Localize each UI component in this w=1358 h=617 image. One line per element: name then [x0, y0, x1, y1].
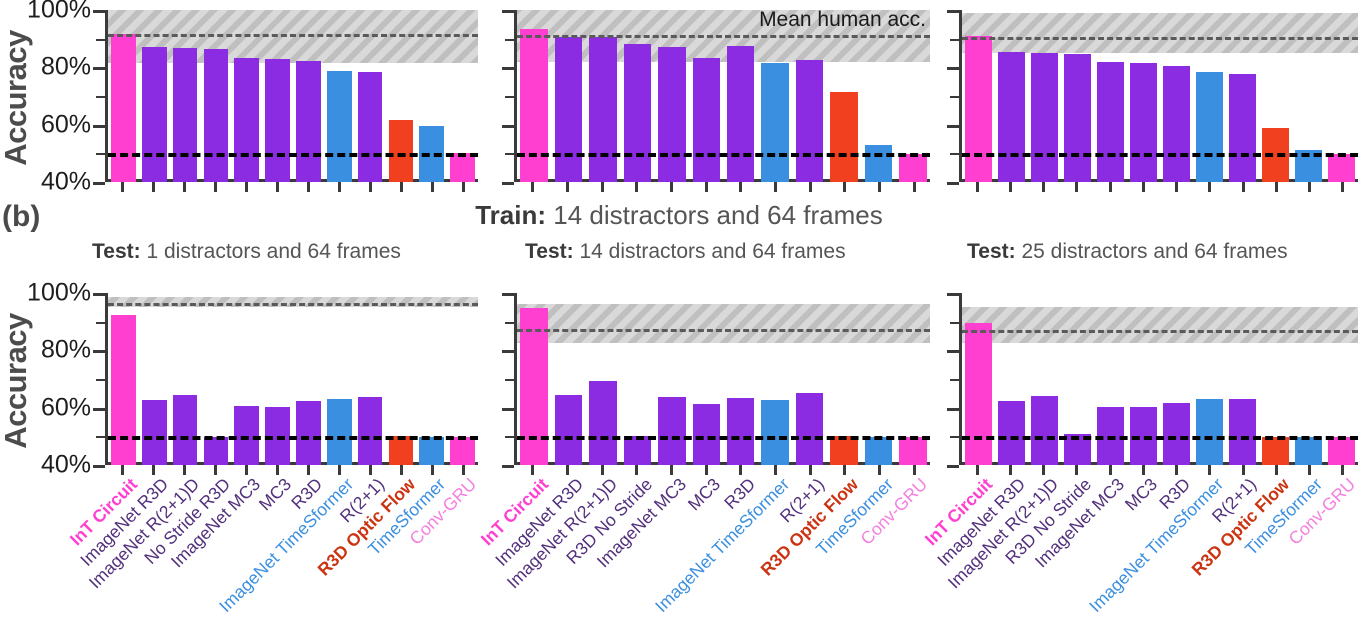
x-tick	[1175, 182, 1178, 192]
x-tick	[1075, 182, 1078, 192]
y-tick	[502, 125, 514, 128]
bar	[173, 48, 198, 182]
y-tick-label: 40%	[41, 168, 91, 197]
y-tick	[505, 96, 514, 98]
bar	[265, 59, 290, 182]
test-title-right: Test: 25 distractors and 64 frames	[967, 240, 1288, 264]
y-axis-label-bottom: Accuracy	[0, 283, 36, 478]
mean-human-acc-annotation: Mean human acc.	[759, 8, 926, 32]
y-tick	[93, 10, 105, 13]
plot-area-top-middle: Mean human acc.	[514, 10, 930, 182]
y-tick	[505, 379, 514, 381]
chance-level-line	[517, 153, 930, 157]
y-tick	[502, 67, 514, 70]
x-tick	[1308, 182, 1311, 192]
x-tick	[670, 182, 673, 192]
y-tick	[950, 379, 959, 381]
y-tick	[93, 350, 105, 353]
bar	[111, 34, 136, 182]
chart-panel-top-right	[897, 0, 1358, 195]
bar	[555, 37, 583, 182]
bar	[234, 58, 259, 182]
bar	[204, 49, 229, 182]
plot-area-bottom-right	[959, 293, 1358, 465]
train-condition-title: Train: 14 distractors and 64 frames	[0, 200, 1358, 231]
plot-area-top-right	[959, 10, 1358, 182]
test-value-left: 1 distractors and 64 frames	[141, 240, 401, 263]
bar	[389, 120, 414, 182]
y-tick	[950, 39, 959, 41]
x-tick	[121, 182, 124, 192]
x-tick	[214, 182, 217, 192]
y-tick	[93, 67, 105, 70]
x-tick	[183, 182, 186, 192]
y-tick-label: 80%	[41, 336, 91, 365]
y-tick	[505, 153, 514, 155]
x-tick	[843, 182, 846, 192]
bar	[1328, 154, 1354, 182]
test-value-middle: 14 distractors and 64 frames	[574, 240, 846, 263]
bar	[865, 437, 893, 465]
test-value-right: 25 distractors and 64 frames	[1016, 240, 1288, 263]
y-tick	[947, 10, 959, 13]
bar	[1130, 63, 1156, 182]
bar	[830, 92, 858, 182]
bar	[830, 436, 858, 465]
x-tick	[1341, 182, 1344, 192]
bar	[624, 436, 652, 465]
bar	[865, 145, 893, 182]
bar	[693, 404, 721, 465]
bar	[1295, 437, 1321, 465]
x-tick	[338, 182, 341, 192]
bar	[1097, 62, 1123, 182]
y-tick	[505, 322, 514, 324]
y-tick	[93, 182, 105, 185]
bar	[1064, 54, 1090, 182]
mean-human-accuracy-line	[962, 330, 1358, 333]
y-tick	[947, 350, 959, 353]
y-tick-label: 60%	[41, 393, 91, 422]
chance-level-line	[108, 436, 478, 440]
bar	[358, 72, 383, 182]
y-tick	[947, 182, 959, 185]
chart-panel-bottom-right	[897, 283, 1358, 483]
bar	[761, 63, 789, 182]
bar	[796, 60, 824, 182]
y-tick	[950, 153, 959, 155]
bar	[965, 36, 991, 182]
train-label: Train:	[475, 200, 546, 230]
bar	[998, 52, 1024, 182]
bar	[899, 437, 927, 465]
x-tick	[245, 182, 248, 192]
y-axis-label-top: Accuracy	[0, 0, 36, 195]
bar	[296, 401, 321, 465]
y-tick	[502, 182, 514, 185]
y-tick	[96, 379, 105, 381]
train-value: 14 distractors and 64 frames	[546, 200, 883, 230]
x-tick	[1275, 182, 1278, 192]
chart-row-bottom: Accuracy 100%80%60%40%	[0, 283, 1358, 483]
bar	[1229, 74, 1255, 182]
y-tick-label: 60%	[41, 110, 91, 139]
bar	[965, 323, 991, 465]
bar	[624, 44, 652, 182]
bar	[296, 61, 321, 182]
x-tick	[1242, 182, 1245, 192]
bar	[450, 437, 475, 465]
mean-human-accuracy-line	[517, 329, 930, 332]
bar	[1163, 403, 1189, 465]
x-tick	[369, 182, 372, 192]
bar	[204, 437, 229, 465]
plot-area-bottom-middle	[514, 293, 930, 465]
bar	[693, 58, 721, 182]
chance-level-line	[962, 436, 1358, 440]
y-tick	[96, 322, 105, 324]
y-tick	[950, 322, 959, 324]
bar	[1031, 53, 1057, 182]
x-tick	[276, 182, 279, 192]
x-tick	[809, 182, 812, 192]
y-tick-label: 80%	[41, 53, 91, 82]
mean-human-accuracy-line	[108, 34, 478, 37]
bar	[796, 393, 824, 465]
y-tick	[96, 96, 105, 98]
bar	[327, 399, 352, 466]
x-tick	[705, 182, 708, 192]
x-tick	[431, 182, 434, 192]
bar	[555, 395, 583, 465]
chance-level-line	[108, 153, 478, 157]
y-tick	[96, 39, 105, 41]
mean-human-accuracy-line	[108, 303, 478, 306]
chart-panel-bottom-middle	[452, 283, 930, 483]
bar	[1229, 399, 1255, 465]
x-tick	[307, 182, 310, 192]
bar	[761, 400, 789, 465]
y-tick	[96, 153, 105, 155]
bar	[998, 401, 1024, 465]
x-tick	[152, 182, 155, 192]
y-tick	[947, 293, 959, 296]
bar	[142, 47, 167, 182]
bar	[589, 381, 617, 465]
bar	[327, 71, 352, 183]
bar	[173, 395, 198, 465]
y-tick	[950, 96, 959, 98]
bar	[727, 398, 755, 465]
x-tick	[976, 182, 979, 192]
y-tick	[505, 39, 514, 41]
chart-panel-top-middle: Mean human acc.	[452, 0, 930, 195]
y-tick	[93, 465, 105, 468]
y-tick	[947, 125, 959, 128]
x-tick	[1042, 182, 1045, 192]
y-tick	[502, 293, 514, 296]
y-tick	[502, 10, 514, 13]
bar	[1196, 72, 1222, 182]
y-tick	[93, 293, 105, 296]
y-tick	[93, 408, 105, 411]
test-title-left: Test: 1 distractors and 64 frames	[92, 240, 401, 264]
y-tick-label: 100%	[27, 279, 91, 308]
bar	[658, 47, 686, 182]
y-tick	[96, 436, 105, 438]
bar	[658, 397, 686, 465]
x-tick	[400, 182, 403, 192]
test-label-left: Test:	[92, 240, 141, 263]
mean-human-accuracy-line	[517, 35, 930, 38]
bar	[358, 397, 383, 465]
test-title-middle: Test: 14 distractors and 64 frames	[525, 240, 846, 264]
x-tick	[774, 182, 777, 192]
x-tick	[739, 182, 742, 192]
chance-level-line	[962, 153, 1358, 157]
chart-panel-top-left: Accuracy 100%80%60%40%	[0, 0, 478, 195]
bar	[142, 400, 167, 465]
chart-row-top: Accuracy 100%80%60%40% Mean human acc.	[0, 0, 1358, 195]
x-axis-labels: InT CircuitImageNet R3DImageNet R(2+1)DN…	[0, 474, 1358, 594]
chart-panel-bottom-left: Accuracy 100%80%60%40%	[0, 283, 478, 483]
plot-area-top-left: 100%80%60%40%	[105, 10, 478, 182]
bar	[111, 315, 136, 465]
x-tick	[1009, 182, 1012, 192]
x-tick	[566, 182, 569, 192]
bar	[1163, 66, 1189, 182]
y-tick	[947, 67, 959, 70]
x-tick	[601, 182, 604, 192]
mean-human-accuracy-line	[962, 37, 1358, 40]
bar	[1196, 399, 1222, 465]
x-tick	[1109, 182, 1112, 192]
bar	[589, 37, 617, 182]
x-tick	[878, 182, 881, 192]
figure-panel-b: Accuracy 100%80%60%40% Mean human acc. (…	[0, 0, 1358, 596]
bar	[1328, 437, 1354, 465]
x-tick	[531, 182, 534, 192]
bar	[1031, 396, 1057, 465]
y-tick	[93, 125, 105, 128]
bar	[899, 154, 927, 182]
chance-level-line	[517, 436, 930, 440]
y-tick	[502, 350, 514, 353]
bar	[389, 436, 414, 465]
x-tick	[1208, 182, 1211, 192]
bar	[727, 46, 755, 182]
test-label-middle: Test:	[525, 240, 574, 263]
bar	[520, 29, 548, 182]
bar	[419, 437, 444, 465]
bar	[1262, 437, 1288, 465]
x-tick	[635, 182, 638, 192]
test-label-right: Test:	[967, 240, 1016, 263]
plot-area-bottom-left: 100%80%60%40%	[105, 293, 478, 465]
y-tick-label: 100%	[27, 0, 91, 25]
x-tick	[1142, 182, 1145, 192]
